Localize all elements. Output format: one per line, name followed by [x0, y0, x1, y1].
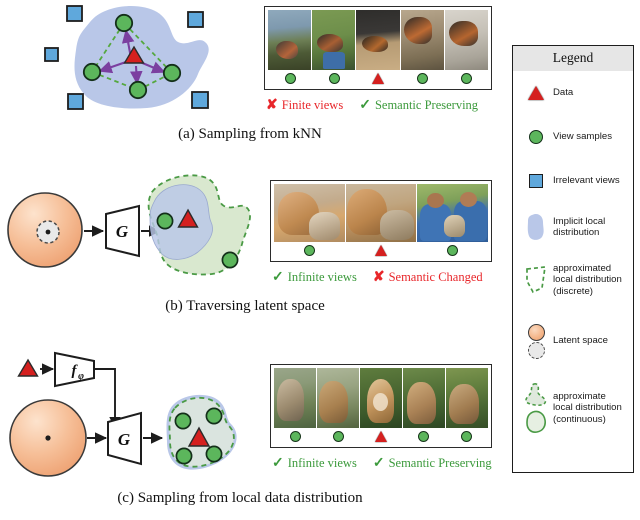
- generator-label: G: [116, 222, 129, 241]
- status-infinite-views: ✓ Infinite views: [272, 456, 357, 471]
- panel-b-markers: [274, 242, 488, 259]
- photo-coyote-1: [274, 368, 316, 428]
- panel-a-caption: (a) Sampling from kNN: [0, 126, 500, 143]
- status-label: Semantic Preserving: [389, 456, 492, 471]
- panel-c: f φ G: [0, 338, 500, 520]
- photo-coyote-3: [360, 368, 402, 428]
- view-sample-circle-icon: [447, 245, 458, 256]
- view-sample-circle-icon: [461, 431, 472, 442]
- legend-item-label: Implicit local distribution: [553, 216, 627, 239]
- marker-cell: [400, 73, 444, 84]
- legend-item-label: approximate local distribution (continuo…: [553, 391, 627, 426]
- legend-item-label: Data: [553, 87, 573, 99]
- marker-cell: [356, 73, 400, 84]
- panel-a-diagram: [12, 2, 262, 127]
- photo-coyote-2: [317, 368, 359, 428]
- latent-sample-point: [45, 435, 50, 440]
- status-semantic-preserving: ✓ Semantic Preserving: [359, 98, 478, 113]
- photo-robin-1: [268, 10, 311, 70]
- check-icon: ✓: [359, 99, 371, 113]
- status-label: Semantic Preserving: [375, 98, 478, 113]
- marker-cell: [274, 431, 317, 442]
- legend-item-latent-space: Latent space: [513, 309, 633, 373]
- panel-a-photos: [268, 10, 488, 70]
- generator-label: G: [118, 430, 131, 449]
- implicit-local-distribution-icon: [519, 212, 553, 242]
- encoder-label-subscript: φ: [78, 371, 84, 382]
- marker-cell: [268, 73, 312, 84]
- view-sample-circle-icon: [290, 431, 301, 442]
- latent-sample-point: [46, 230, 51, 235]
- photo-coyote-5: [446, 368, 488, 428]
- panel-c-image-strip: [270, 364, 492, 448]
- data-triangle-icon: [19, 360, 38, 376]
- status-semantic-changed: ✘ Semantic Changed: [373, 270, 483, 285]
- view-sample-circle-icon: [461, 73, 472, 84]
- marker-cell: [445, 431, 488, 442]
- marker-cell: [345, 245, 416, 256]
- photo-robin-3: [356, 10, 399, 70]
- marker-cell: [417, 245, 488, 256]
- photo-robin-2: [312, 10, 355, 70]
- photo-dogs-1: [274, 184, 345, 242]
- panel-c-diagram: f φ G: [2, 342, 258, 482]
- photo-robin-5: [445, 10, 488, 70]
- view-sample-circle-icon: [285, 73, 296, 84]
- panel-b: G: [0, 160, 500, 320]
- latent-space-icon: [519, 324, 553, 359]
- approximated-local-distribution-discrete-icon: [519, 265, 553, 295]
- panel-c-status: ✓ Infinite views ✓ Semantic Preserving: [272, 456, 492, 471]
- panel-b-status: ✓ Infinite views ✘ Semantic Changed: [272, 270, 483, 285]
- legend-item-view-samples: View samples: [513, 115, 633, 159]
- marker-cell: [360, 431, 403, 442]
- view-sample-circle-icon: [329, 73, 340, 84]
- status-label: Infinite views: [288, 456, 357, 471]
- status-finite-views: ✘ Finite views: [266, 98, 343, 113]
- legend-item-label: Irrelevant views: [553, 175, 620, 187]
- status-label: Semantic Changed: [389, 270, 483, 285]
- data-triangle-icon: [375, 245, 387, 256]
- marker-cell: [444, 73, 488, 84]
- view-sample-circle-icon: [222, 252, 237, 267]
- legend-item-irrelevant-views: Irrelevant views: [513, 159, 633, 203]
- legend-panel: Legend Data View samples Irrelevant view…: [512, 45, 634, 473]
- photo-robin-4: [401, 10, 444, 70]
- status-label: Finite views: [282, 98, 343, 113]
- legend-item-approximated-local-distribution-discrete: approximated local distribution (discret…: [513, 251, 633, 309]
- panel-b-image-strip: [270, 180, 492, 262]
- data-triangle-icon: [372, 73, 384, 84]
- data-triangle-icon: [375, 431, 387, 442]
- legend-item-label: View samples: [553, 131, 612, 143]
- panel-c-photos: [274, 368, 488, 428]
- panel-a-image-strip: [264, 6, 492, 90]
- check-icon: ✓: [272, 457, 284, 471]
- view-sample-circle-icon: [304, 245, 315, 256]
- panel-c-caption: (c) Sampling from local data distributio…: [0, 490, 480, 507]
- photo-dogs-3: [417, 184, 488, 242]
- legend-title: Legend: [513, 46, 633, 71]
- panel-b-diagram: G: [2, 162, 258, 284]
- view-sample-circle-icon: [417, 73, 428, 84]
- panel-b-caption: (b) Traversing latent space: [0, 298, 490, 315]
- view-sample-circle-icon: [157, 213, 172, 228]
- marker-cell: [312, 73, 356, 84]
- legend-item-implicit-local-distribution: Implicit local distribution: [513, 203, 633, 251]
- panel-a: ✘ Finite views ✓ Semantic Preserving (a)…: [0, 0, 500, 148]
- marker-cell: [274, 245, 345, 256]
- panel-a-markers: [268, 70, 488, 87]
- cross-icon: ✘: [266, 99, 278, 113]
- irrelevant-view-square-icon: [519, 174, 553, 188]
- view-sample-circle-icon: [333, 431, 344, 442]
- view-sample-circle-icon: [418, 431, 429, 442]
- status-semantic-preserving: ✓ Semantic Preserving: [373, 456, 492, 471]
- encoder-to-generator-path: [94, 369, 115, 428]
- check-icon: ✓: [272, 271, 284, 285]
- legend-item-approximate-local-distribution-continuous: approximate local distribution (continuo…: [513, 373, 633, 443]
- data-triangle-icon: [519, 86, 553, 100]
- panel-c-markers: [274, 428, 488, 445]
- panel-a-status: ✘ Finite views ✓ Semantic Preserving: [266, 98, 478, 113]
- approximate-local-distribution-continuous-icon: [519, 382, 553, 434]
- status-infinite-views: ✓ Infinite views: [272, 270, 357, 285]
- legend-item-data: Data: [513, 71, 633, 115]
- view-sample-circle-icon: [519, 130, 553, 144]
- marker-cell: [402, 431, 445, 442]
- check-icon: ✓: [373, 457, 385, 471]
- photo-coyote-4: [403, 368, 445, 428]
- photo-dogs-2: [346, 184, 417, 242]
- legend-item-label: approximated local distribution (discret…: [553, 263, 627, 298]
- panel-b-photos: [274, 184, 488, 242]
- marker-cell: [317, 431, 360, 442]
- cross-icon: ✘: [373, 271, 385, 285]
- legend-item-label: Latent space: [553, 335, 608, 347]
- status-label: Infinite views: [288, 270, 357, 285]
